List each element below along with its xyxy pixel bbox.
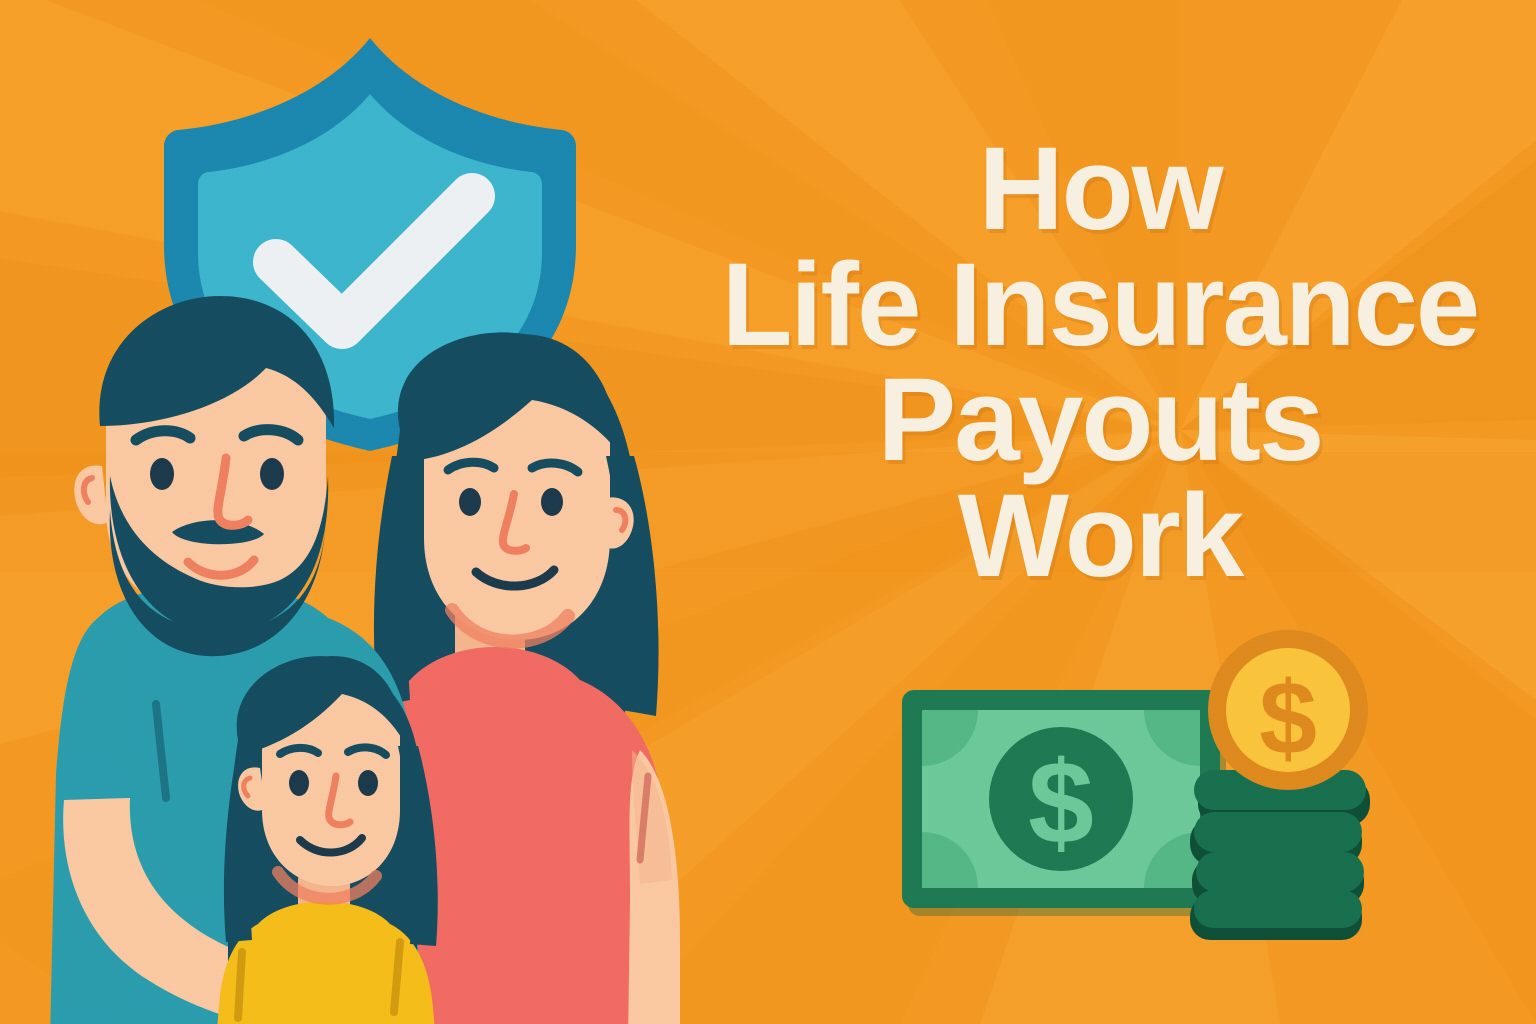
mother-eye-left [459,488,481,516]
coin-stack [1190,770,1370,940]
coin-disc-2-top [1196,852,1364,892]
title-line-3: Payouts [660,363,1536,479]
money-illustration: $ $ [890,610,1410,940]
father-eye-right [260,458,284,490]
banknote: $ [902,690,1226,916]
daughter-eye-right [358,770,378,796]
father-ear [74,465,108,524]
poster-canvas: $ $ How Life Insurance Payouts Work [0,0,1536,1024]
father-eye-left [150,458,174,490]
daughter-sleeve-crease-left [238,952,242,1018]
title-line-4: Work [660,479,1536,595]
poster-title: How Life Insurance Payouts Work [660,132,1536,595]
gold-coin: $ [1208,630,1368,790]
title-line-1: How [660,132,1536,248]
banknote-dollar-sign: $ [1028,737,1094,869]
coin-disc-1-top [1194,890,1362,928]
daughter-eye-left [289,770,309,796]
coin-disc-3-top [1194,812,1362,852]
title-line-2: Life Insurance [669,248,1531,364]
family-illustration [0,280,720,1024]
mother-eye-right [541,488,563,516]
gold-coin-dollar-sign: $ [1259,661,1317,777]
